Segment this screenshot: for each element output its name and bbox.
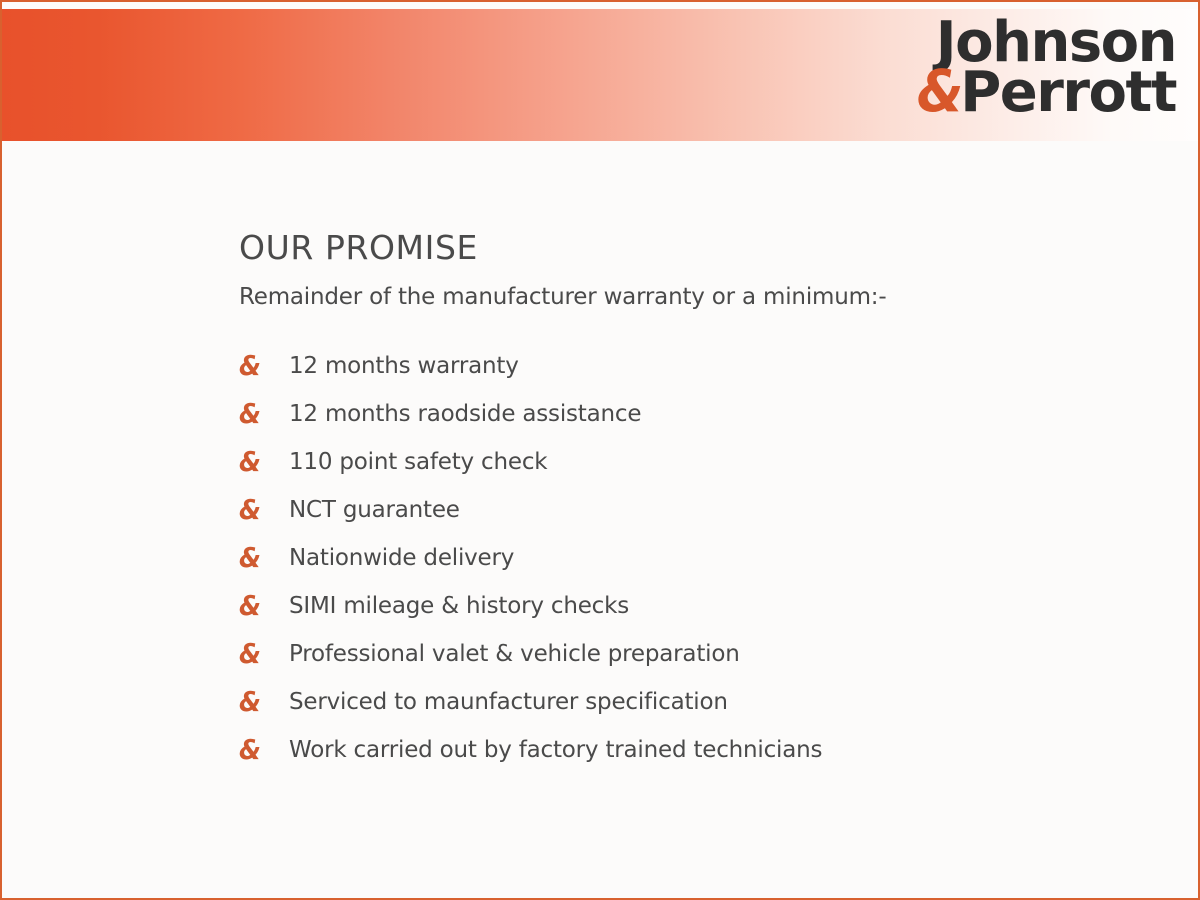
logo-line-perrott-row: & Perrott bbox=[915, 67, 1176, 117]
list-item-label: Professional valet & vehicle preparation bbox=[289, 641, 740, 667]
ampersand-bullet-icon: & bbox=[239, 496, 284, 524]
list-item: & SIMI mileage & history checks bbox=[239, 582, 1139, 630]
list-item-label: 12 months warranty bbox=[289, 353, 519, 379]
brand-logo: Johnson & Perrott bbox=[915, 19, 1176, 117]
list-item: & Work carried out by factory trained te… bbox=[239, 726, 1139, 774]
ampersand-bullet-icon: & bbox=[239, 544, 284, 572]
ampersand-bullet-icon: & bbox=[239, 688, 284, 716]
ampersand-bullet-icon: & bbox=[239, 736, 284, 764]
list-item-label: 110 point safety check bbox=[289, 449, 547, 475]
list-item-label: 12 months raodside assistance bbox=[289, 401, 641, 427]
list-item: & 12 months warranty bbox=[239, 342, 1139, 390]
ampersand-bullet-icon: & bbox=[239, 400, 284, 428]
ampersand-bullet-icon: & bbox=[239, 640, 284, 668]
list-item-label: Nationwide delivery bbox=[289, 545, 514, 571]
list-item-label: Work carried out by factory trained tech… bbox=[289, 737, 822, 763]
promise-slide: Johnson & Perrott OUR PROMISE Remainder … bbox=[0, 0, 1200, 900]
list-item: & 110 point safety check bbox=[239, 438, 1139, 486]
list-item: & Serviced to maunfacturer specification bbox=[239, 678, 1139, 726]
list-item: & Professional valet & vehicle preparati… bbox=[239, 630, 1139, 678]
logo-line-perrott: Perrott bbox=[960, 69, 1176, 117]
ampersand-bullet-icon: & bbox=[239, 448, 284, 476]
promise-list: & 12 months warranty & 12 months raodsid… bbox=[239, 342, 1139, 774]
list-item: & NCT guarantee bbox=[239, 486, 1139, 534]
list-item-label: SIMI mileage & history checks bbox=[289, 593, 629, 619]
list-item: & 12 months raodside assistance bbox=[239, 390, 1139, 438]
logo-ampersand-icon: & bbox=[917, 67, 961, 117]
page-title: OUR PROMISE bbox=[239, 230, 1139, 266]
top-spacer bbox=[2, 2, 1198, 9]
list-item: & Nationwide delivery bbox=[239, 534, 1139, 582]
list-item-label: NCT guarantee bbox=[289, 497, 460, 523]
list-item-label: Serviced to maunfacturer specification bbox=[289, 689, 728, 715]
header-gradient-band: Johnson & Perrott bbox=[2, 9, 1198, 141]
ampersand-bullet-icon: & bbox=[239, 352, 284, 380]
ampersand-bullet-icon: & bbox=[239, 592, 284, 620]
subtitle: Remainder of the manufacturer warranty o… bbox=[239, 284, 1139, 312]
content-area: OUR PROMISE Remainder of the manufacture… bbox=[239, 230, 1139, 774]
